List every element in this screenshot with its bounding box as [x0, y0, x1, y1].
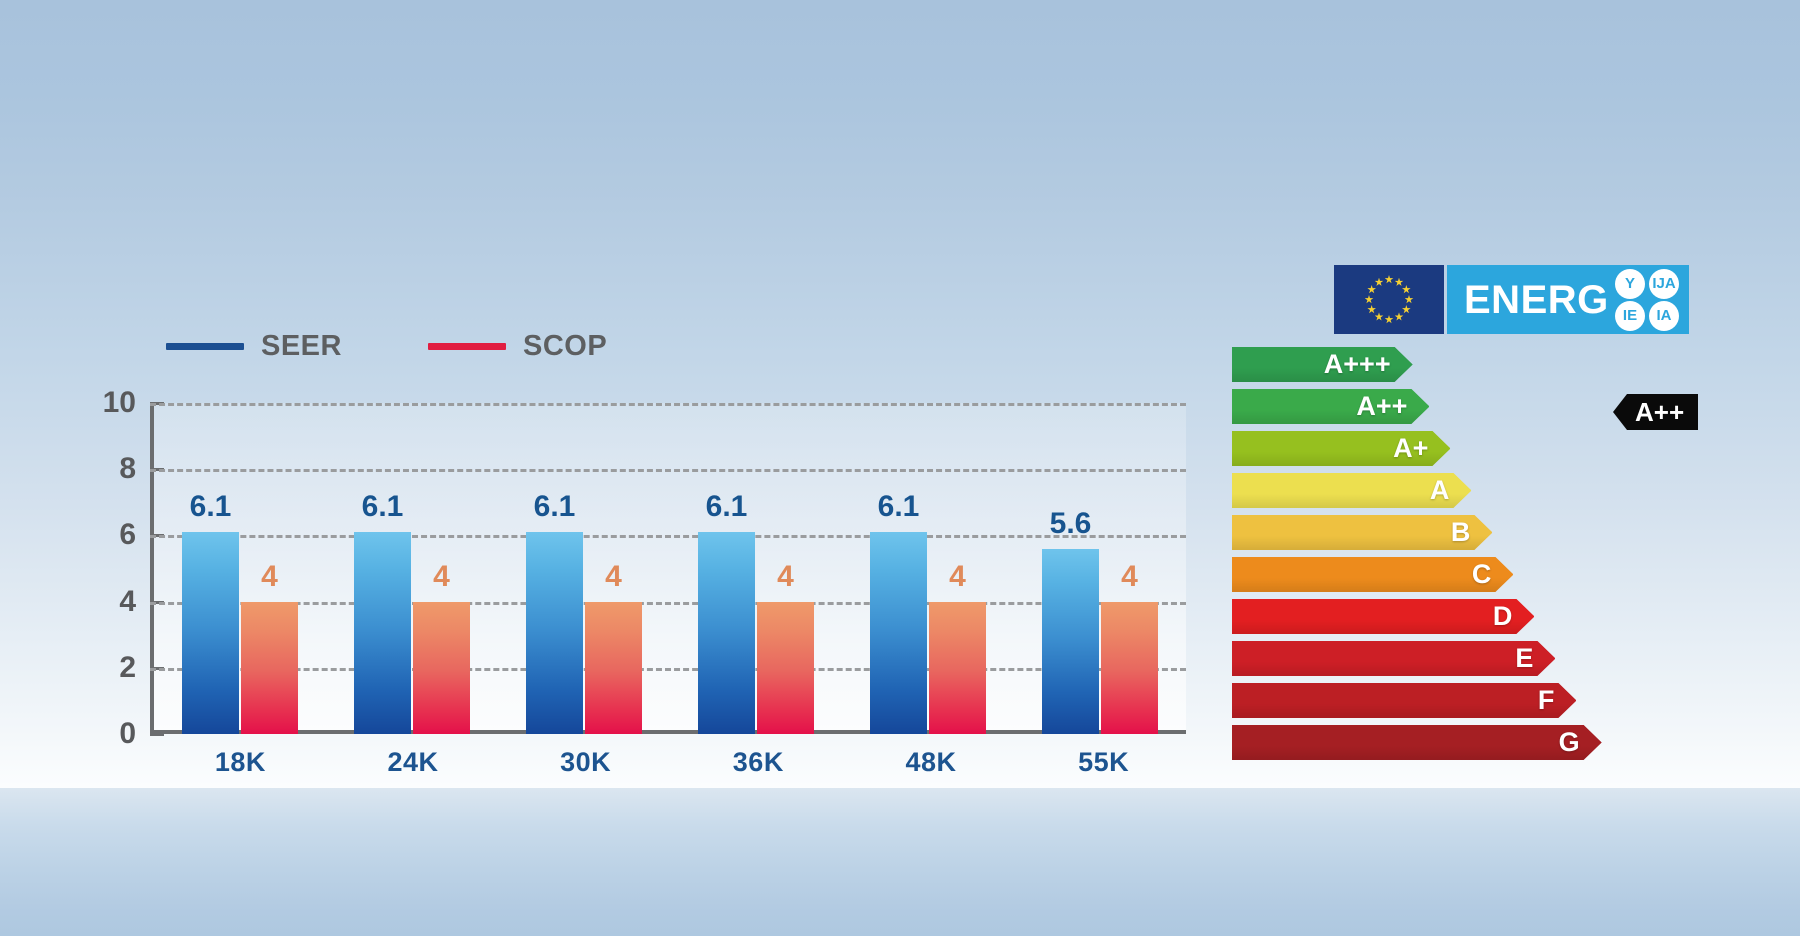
rating-label: A+ [1393, 435, 1428, 462]
energ-language-badges: YIJAIEIA [1615, 269, 1679, 331]
bar-seer-55k[interactable]: 5.6 [1042, 549, 1099, 734]
rating-row-D: D [1232, 599, 1652, 634]
y-tick-label: 10 [103, 386, 136, 420]
y-tick-label: 0 [119, 717, 136, 751]
bar-seer-18k[interactable]: 6.1 [182, 532, 239, 734]
bar-value-label: 6.1 [706, 490, 748, 524]
bar-seer-30k[interactable]: 6.1 [526, 532, 583, 734]
rating-row-Aplusplus: A++ [1232, 389, 1652, 424]
eu-energy-label: ENERG YIJAIEIA A+++A++A+ABCDEFG A++ [1232, 255, 1732, 755]
rating-row-B: B [1232, 515, 1652, 550]
bar-scop-48k[interactable]: 4 [929, 602, 986, 734]
bar-groups: 6.146.146.146.146.145.64 [154, 403, 1186, 734]
legend-swatch-scop [428, 343, 506, 350]
bar-value-label: 6.1 [534, 490, 576, 524]
infographic-canvas: SEER SCOP 0246810 6.146.146.146.146.145.… [0, 0, 1800, 936]
bar-group-30k: 6.14 [510, 403, 658, 734]
rating-row-G: G [1232, 725, 1652, 760]
x-axis-label-18k: 18K [166, 747, 314, 778]
chart-legend: SEER SCOP [166, 330, 607, 363]
bar-value-label: 4 [1121, 560, 1138, 594]
bar-value-label: 4 [949, 560, 966, 594]
energ-badge-ija: IJA [1649, 269, 1679, 299]
bar-value-label: 4 [777, 560, 794, 594]
rating-arrow[interactable]: A [1232, 473, 1471, 508]
energy-rating-scale: A+++A++A+ABCDEFG [1232, 347, 1652, 767]
eu-star-icon [1395, 278, 1404, 287]
plot-frame: 0246810 6.146.146.146.146.145.64 [150, 403, 1186, 734]
rating-arrow[interactable]: D [1232, 599, 1534, 634]
bar-seer-24k[interactable]: 6.1 [354, 532, 411, 734]
rating-arrow[interactable]: C [1232, 557, 1513, 592]
bar-value-label: 4 [433, 560, 450, 594]
rating-arrow[interactable]: E [1232, 641, 1555, 676]
bar-value-label: 6.1 [362, 490, 404, 524]
eu-star-icon [1367, 285, 1376, 294]
x-axis-label-24k: 24K [339, 747, 487, 778]
y-tick-label: 2 [119, 651, 136, 685]
bar-scop-55k[interactable]: 4 [1101, 602, 1158, 734]
rating-arrow[interactable]: B [1232, 515, 1492, 550]
x-axis-labels: 18K24K30K36K48K55K [154, 747, 1190, 778]
legend-item-seer: SEER [166, 330, 342, 363]
legend-swatch-seer [166, 343, 244, 350]
rating-label: B [1451, 519, 1471, 546]
rating-row-F: F [1232, 683, 1652, 718]
rating-label: E [1515, 645, 1533, 672]
bar-value-label: 4 [605, 560, 622, 594]
bar-group-24k: 6.14 [338, 403, 486, 734]
y-tick-label: 6 [119, 518, 136, 552]
energ-badge-ie: IE [1615, 301, 1645, 331]
legend-label-scop: SCOP [523, 330, 607, 363]
energ-wordmark-box: ENERG YIJAIEIA [1447, 265, 1689, 334]
energy-label-header: ENERG YIJAIEIA [1334, 265, 1689, 334]
eu-star-icon [1375, 312, 1384, 321]
eu-star-icon [1395, 312, 1404, 321]
rating-label: C [1472, 561, 1492, 588]
legend-item-scop: SCOP [428, 330, 607, 363]
selected-rating-marker: A++ [1613, 394, 1698, 430]
eu-star-icon [1385, 275, 1394, 284]
energ-badge-y: Y [1615, 269, 1645, 299]
bar-value-label: 4 [261, 560, 278, 594]
rating-row-E: E [1232, 641, 1652, 676]
bar-value-label: 6.1 [878, 490, 920, 524]
bar-group-48k: 6.14 [854, 403, 1002, 734]
rating-arrow[interactable]: F [1232, 683, 1576, 718]
energ-wordmark: ENERG [1464, 280, 1609, 320]
rating-label: D [1493, 603, 1513, 630]
rating-arrow[interactable]: A+++ [1232, 347, 1413, 382]
rating-arrow[interactable]: G [1232, 725, 1602, 760]
eu-star-icon [1365, 295, 1374, 304]
eu-star-icon [1405, 295, 1414, 304]
rating-row-Aplusplusplus: A+++ [1232, 347, 1652, 382]
eu-star-icon [1367, 305, 1376, 314]
eu-star-icon [1402, 305, 1411, 314]
rating-label: A++ [1356, 393, 1407, 420]
bar-seer-48k[interactable]: 6.1 [870, 532, 927, 734]
background-floor-band [0, 788, 1800, 936]
bar-value-label: 6.1 [190, 490, 232, 524]
y-tick-label: 4 [119, 585, 136, 619]
x-axis-label-36k: 36K [684, 747, 832, 778]
bar-seer-36k[interactable]: 6.1 [698, 532, 755, 734]
y-tick-label: 8 [119, 452, 136, 486]
rating-label: F [1538, 687, 1555, 714]
rating-row-C: C [1232, 557, 1652, 592]
bar-scop-24k[interactable]: 4 [413, 602, 470, 734]
rating-row-A: A [1232, 473, 1652, 508]
rating-label: A+++ [1324, 351, 1391, 378]
rating-label: A [1430, 477, 1450, 504]
x-axis-label-55k: 55K [1030, 747, 1178, 778]
selected-rating-label: A++ [1635, 399, 1684, 425]
rating-arrow[interactable]: A+ [1232, 431, 1450, 466]
bar-scop-30k[interactable]: 4 [585, 602, 642, 734]
x-axis-label-48k: 48K [857, 747, 1005, 778]
bar-group-18k: 6.14 [166, 403, 314, 734]
bar-group-55k: 5.64 [1026, 403, 1174, 734]
rating-label: G [1559, 729, 1580, 756]
rating-row-Aplus: A+ [1232, 431, 1652, 466]
eu-star-icon [1402, 285, 1411, 294]
seer-scop-bar-chart: SEER SCOP 0246810 6.146.146.146.146.145.… [96, 330, 1186, 800]
bar-scop-18k[interactable]: 4 [241, 602, 298, 734]
rating-arrow[interactable]: A++ [1232, 389, 1429, 424]
energ-badge-ia: IA [1649, 301, 1679, 331]
bar-group-36k: 6.14 [682, 403, 830, 734]
bar-value-label: 5.6 [1050, 507, 1092, 541]
eu-star-icon [1385, 315, 1394, 324]
eu-star-icon [1375, 278, 1384, 287]
bar-scop-36k[interactable]: 4 [757, 602, 814, 734]
x-axis-label-30k: 30K [512, 747, 660, 778]
legend-label-seer: SEER [261, 330, 342, 363]
eu-flag-icon [1334, 265, 1444, 334]
